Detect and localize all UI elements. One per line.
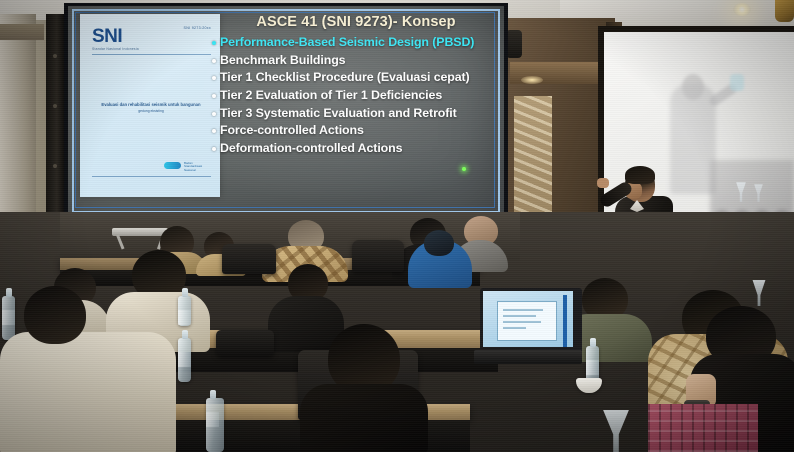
slide-bullet-5: Tier 3 Systematic Evaluation and Retrofi… xyxy=(210,106,492,122)
slide-bullet-label: Deformation-controlled Actions xyxy=(220,141,402,157)
water-bottle xyxy=(178,296,191,326)
gold-decor xyxy=(775,0,794,22)
slide-bullet-3: Tier 1 Checklist Procedure (Evaluasi cep… xyxy=(210,70,492,86)
bullet-dot-icon xyxy=(212,129,216,133)
presenter-hair xyxy=(625,166,655,184)
laptop-document xyxy=(497,301,557,341)
sni-document-title: Evaluasi dan rehabilitasi seismik untuk … xyxy=(96,102,206,114)
slide-bullet-label: Performance-Based Seismic Design (PBSD) xyxy=(220,35,474,51)
wall-lamp-icon xyxy=(521,76,543,84)
bullet-dot-icon xyxy=(212,59,216,63)
person-plaid-shirt xyxy=(648,404,758,452)
laptop-bag xyxy=(216,330,274,356)
bullet-dot-icon xyxy=(212,76,216,80)
presenter-raised-hand xyxy=(597,178,609,188)
slide-bullet-list: Performance-Based Seismic Design (PBSD)B… xyxy=(210,35,492,159)
laptop-base xyxy=(474,350,582,364)
spotlight-icon xyxy=(733,3,751,16)
sni-footer-rule xyxy=(92,176,211,177)
slide-bullet-label: Tier 3 Systematic Evaluation and Retrofi… xyxy=(220,106,457,122)
slide-title: ASCE 41 (SNI 9273)- Konsep xyxy=(224,14,488,30)
water-bottle xyxy=(206,398,224,452)
slide-bullet-6: Force-controlled Actions xyxy=(210,123,492,139)
audience-person xyxy=(14,286,118,362)
audience-person-hijab xyxy=(408,230,472,286)
slide-bullet-label: Benchmark Buildings xyxy=(220,53,345,69)
person-head xyxy=(424,230,454,256)
ceiling-speaker xyxy=(506,30,522,58)
sni-logo: SNI xyxy=(92,26,122,48)
bullet-dot-icon xyxy=(212,112,216,116)
slide-bullet-label: Tier 2 Evaluation of Tier 1 Deficiencies xyxy=(220,88,442,104)
left-column-cap xyxy=(0,24,44,40)
bsn-mark-icon xyxy=(164,162,181,169)
slide-body: ASCE 41 (SNI 9273)- Konsep Performance-B… xyxy=(224,13,492,209)
sni-standard-cover: SNI Standar Nasional Indonesia SNI 9273:… xyxy=(80,14,220,197)
slide-bullet-1: Performance-Based Seismic Design (PBSD) xyxy=(210,35,492,51)
slide-bullet-label: Tier 1 Checklist Procedure (Evaluasi cep… xyxy=(220,70,470,86)
water-bottle xyxy=(178,338,191,382)
slide-bullet-label: Force-controlled Actions xyxy=(220,123,364,139)
chair xyxy=(352,240,404,272)
bullet-dot-icon xyxy=(212,94,216,98)
sni-document-title-line2: gedung eksisting xyxy=(138,109,163,113)
bullet-dot-icon xyxy=(212,147,216,151)
bullet-dot-icon xyxy=(212,41,216,45)
laptop-scrollbar[interactable] xyxy=(563,295,567,347)
bsn-logo: Badan Standardisasi Nasional xyxy=(164,161,206,171)
sni-header-rule xyxy=(92,54,211,55)
conference-photo-scene: SNI Standar Nasional Indonesia SNI 9273:… xyxy=(0,0,794,452)
sni-document-title-line1: Evaluasi dan rehabilitasi seismik untuk … xyxy=(101,102,200,107)
bsn-logo-text: Badan Standardisasi Nasional xyxy=(184,162,206,172)
audience-person xyxy=(300,324,428,452)
person-shirt xyxy=(300,384,428,452)
slide-bullet-7: Deformation-controlled Actions xyxy=(210,141,492,157)
laser-pointer-dot xyxy=(462,167,466,171)
mic-leg-left xyxy=(116,234,124,249)
slide-bullet-4: Tier 2 Evaluation of Tier 1 Deficiencies xyxy=(210,88,492,104)
sni-document-code: SNI 9273:20xx xyxy=(184,26,211,30)
audience-laptop[interactable] xyxy=(480,288,582,356)
feed-speaker-hand xyxy=(730,74,744,91)
slide-bullet-2: Benchmark Buildings xyxy=(210,53,492,69)
person-head xyxy=(24,286,86,344)
sni-logo-subtitle: Standar Nasional Indonesia xyxy=(92,47,139,51)
laptop-screen xyxy=(483,291,573,347)
